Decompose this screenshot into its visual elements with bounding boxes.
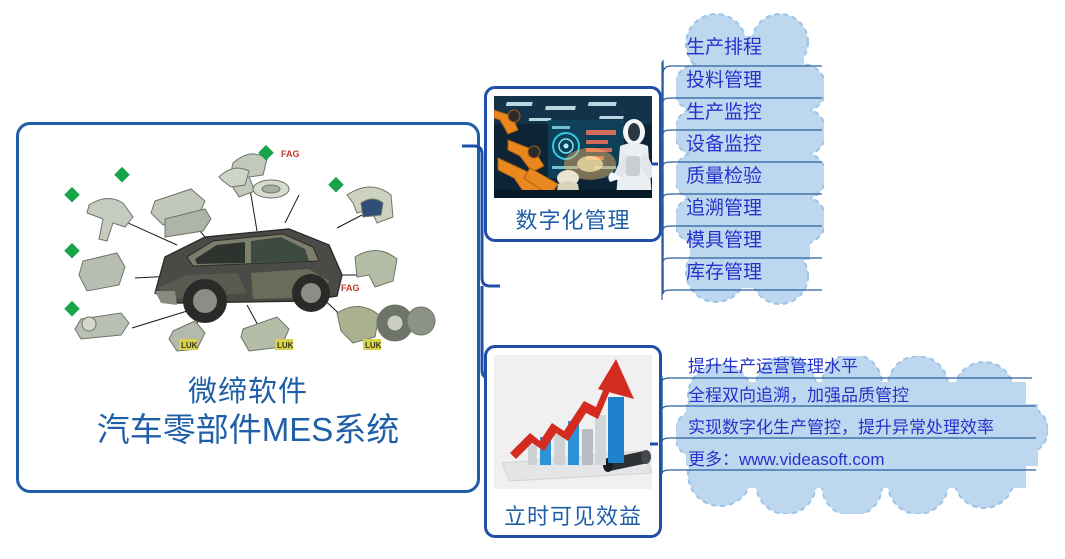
module-item-6[interactable]: 模具管理 — [686, 225, 762, 252]
main-product-card[interactable]: FAG FAG LUK LUK LUK 微缔软件 汽车零部件MES系统 — [16, 122, 480, 493]
benefit-item-1[interactable]: 全程双向追溯，加强品质管控 — [688, 381, 909, 406]
product-company-name: 微缔软件 — [19, 375, 477, 410]
benefit-item-0[interactable]: 提升生产运营管理水平 — [688, 352, 858, 377]
product-system-name: 汽车零部件MES系统 — [19, 410, 477, 450]
svg-text:LUK: LUK — [181, 341, 198, 350]
module-list: 生产排程 投料管理 生产监控 设备监控 质量检验 追溯管理 模具管理 库存管理 — [662, 60, 822, 300]
svg-text:FAG: FAG — [341, 283, 360, 293]
benefit-list: 提升生产运营管理水平 全程双向追溯，加强品质管控 实现数字化生产管控，提升异常处… — [654, 376, 1036, 514]
benefit-item-2[interactable]: 实现数字化生产管控，提升异常处理效率 — [688, 413, 994, 438]
svg-text:FAG: FAG — [281, 149, 300, 159]
page-title: 微缔软件 汽车零部件MES系统 — [19, 375, 477, 451]
svg-text:LUK: LUK — [365, 341, 382, 350]
module-item-4[interactable]: 质量检验 — [686, 161, 762, 188]
module-item-3[interactable]: 设备监控 — [686, 129, 762, 156]
growth-bar-chart-arrow-photo — [494, 355, 652, 489]
smart-factory-robot-photo — [494, 96, 652, 198]
diagram-canvas: FAG FAG LUK LUK LUK 微缔软件 汽车零部件MES系统 — [0, 0, 1065, 559]
feature-card-benefit[interactable]: 立时可见效益 — [484, 345, 662, 538]
module-item-5[interactable]: 追溯管理 — [686, 193, 762, 220]
module-item-2[interactable]: 生产监控 — [686, 97, 762, 124]
module-item-1[interactable]: 投料管理 — [686, 65, 762, 92]
svg-text:LUK: LUK — [277, 341, 294, 350]
car-exploded-parts-diagram: FAG FAG LUK LUK LUK — [37, 133, 465, 363]
feature-card-digital[interactable]: 数字化管理 — [484, 86, 662, 242]
module-item-7[interactable]: 库存管理 — [686, 257, 762, 284]
benefit-item-3[interactable]: 更多：www.videasoft.com — [688, 445, 885, 470]
feature-card-digital-label: 数字化管理 — [487, 203, 659, 235]
feature-card-benefit-label: 立时可见效益 — [487, 499, 659, 531]
module-item-0[interactable]: 生产排程 — [686, 32, 762, 59]
